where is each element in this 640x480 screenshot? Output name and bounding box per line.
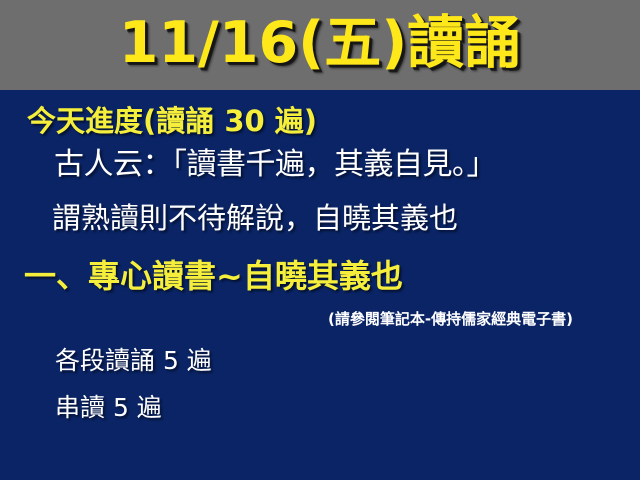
quote-explanation-line: 謂熟讀則不待解說，自曉其義也: [52, 204, 458, 233]
reference-note: (請參閱筆記本-傳持儒家經典電子書): [328, 312, 573, 327]
slide-title: 11/16(五)讀誦: [119, 15, 522, 72]
slide-title-band: 11/16(五)讀誦: [0, 0, 640, 90]
section-heading-line: 一、專心讀書~自曉其義也: [24, 260, 403, 292]
section-repetitions-line: 各段讀誦 5 遍: [55, 348, 212, 373]
ancient-quote-line: 古人云：「讀書千遍，其義自見。」: [54, 150, 496, 180]
slide-body: 今天進度(讀誦 30 遍) 古人云：「讀書千遍，其義自見。」 謂熟讀則不待解說，…: [0, 90, 640, 480]
today-progress-line: 今天進度(讀誦 30 遍): [27, 107, 317, 136]
through-reading-repetitions-line: 串讀 5 遍: [55, 395, 162, 420]
presentation-slide: 11/16(五)讀誦 今天進度(讀誦 30 遍) 古人云：「讀書千遍，其義自見。…: [0, 0, 640, 480]
